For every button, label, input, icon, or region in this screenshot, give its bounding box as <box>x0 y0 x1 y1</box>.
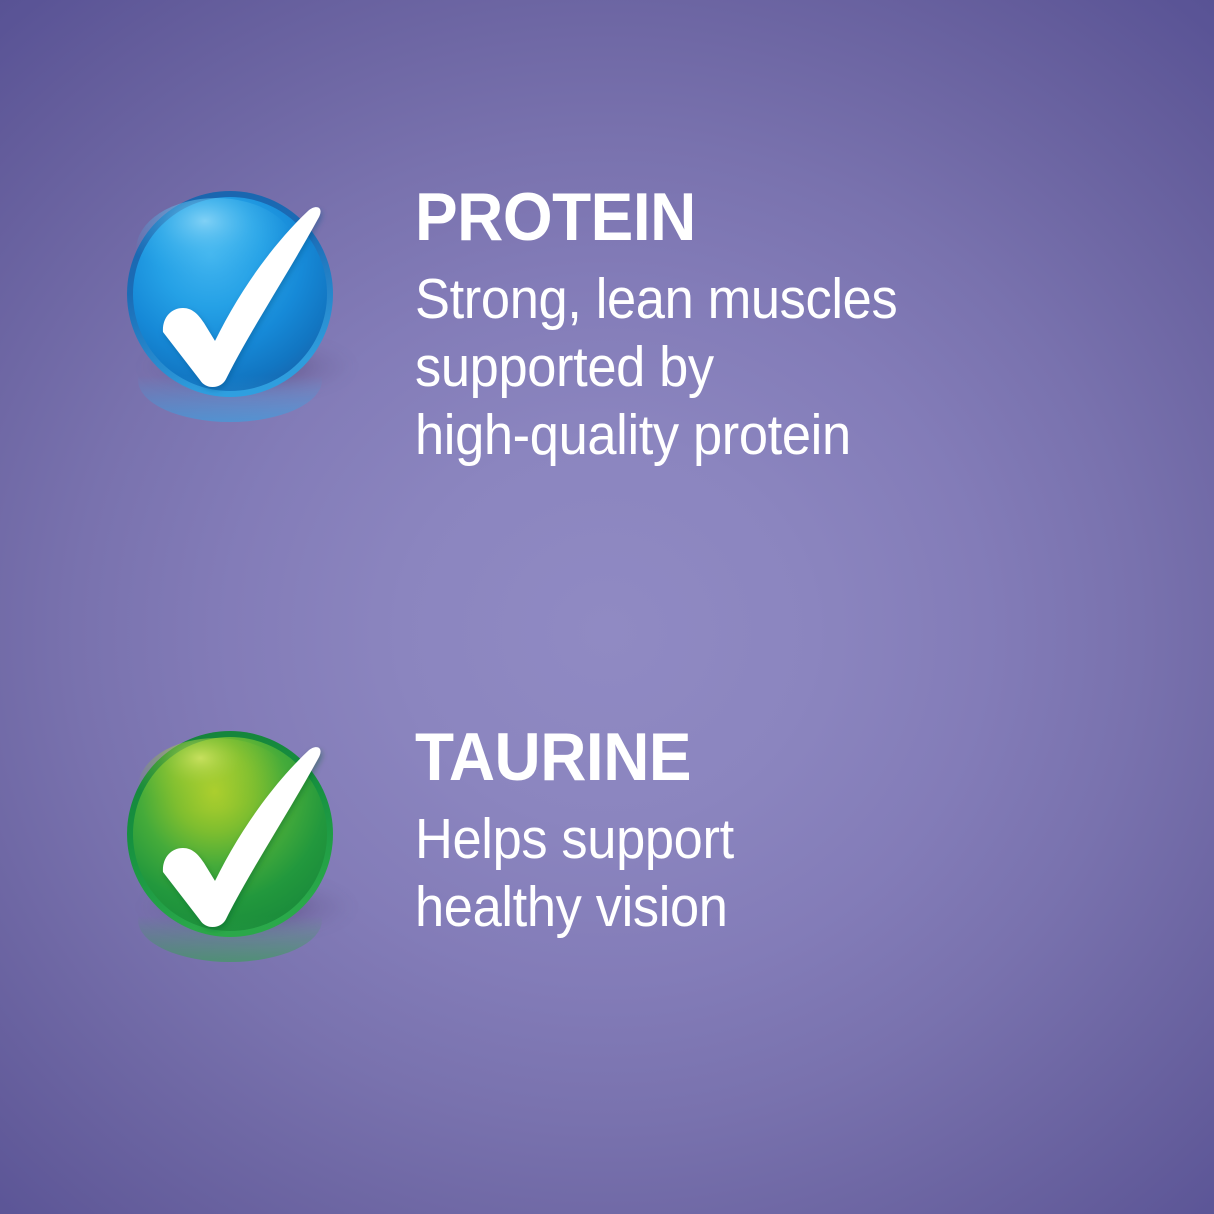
benefits-panel: PROTEIN Strong, lean muscles supported b… <box>0 0 1214 1214</box>
protein-desc-line-1: Strong, lean muscles <box>415 265 1150 333</box>
checkmark-badge-icon-taurine <box>126 730 334 938</box>
checkmark-badge-icon-protein <box>126 190 334 398</box>
protein-text-block: PROTEIN Strong, lean muscles supported b… <box>415 178 1214 470</box>
benefit-row-taurine: TAURINE Helps support healthy vision <box>0 718 1214 948</box>
benefit-description-protein: Strong, lean muscles supported by high-q… <box>415 265 1150 470</box>
taurine-desc-line-1: Helps support <box>415 805 1150 873</box>
benefit-heading-taurine: TAURINE <box>415 724 1166 791</box>
benefit-description-taurine: Helps support healthy vision <box>415 805 1150 942</box>
protein-badge-wrapper <box>108 178 408 408</box>
taurine-badge-wrapper <box>108 718 408 948</box>
benefit-heading-protein: PROTEIN <box>415 184 1166 251</box>
taurine-desc-line-2: healthy vision <box>415 873 1150 941</box>
taurine-text-block: TAURINE Helps support healthy vision <box>415 718 1214 941</box>
protein-desc-line-3: high-quality protein <box>415 401 1150 469</box>
protein-desc-line-2: supported by <box>415 333 1150 401</box>
benefit-row-protein: PROTEIN Strong, lean muscles supported b… <box>0 178 1214 470</box>
